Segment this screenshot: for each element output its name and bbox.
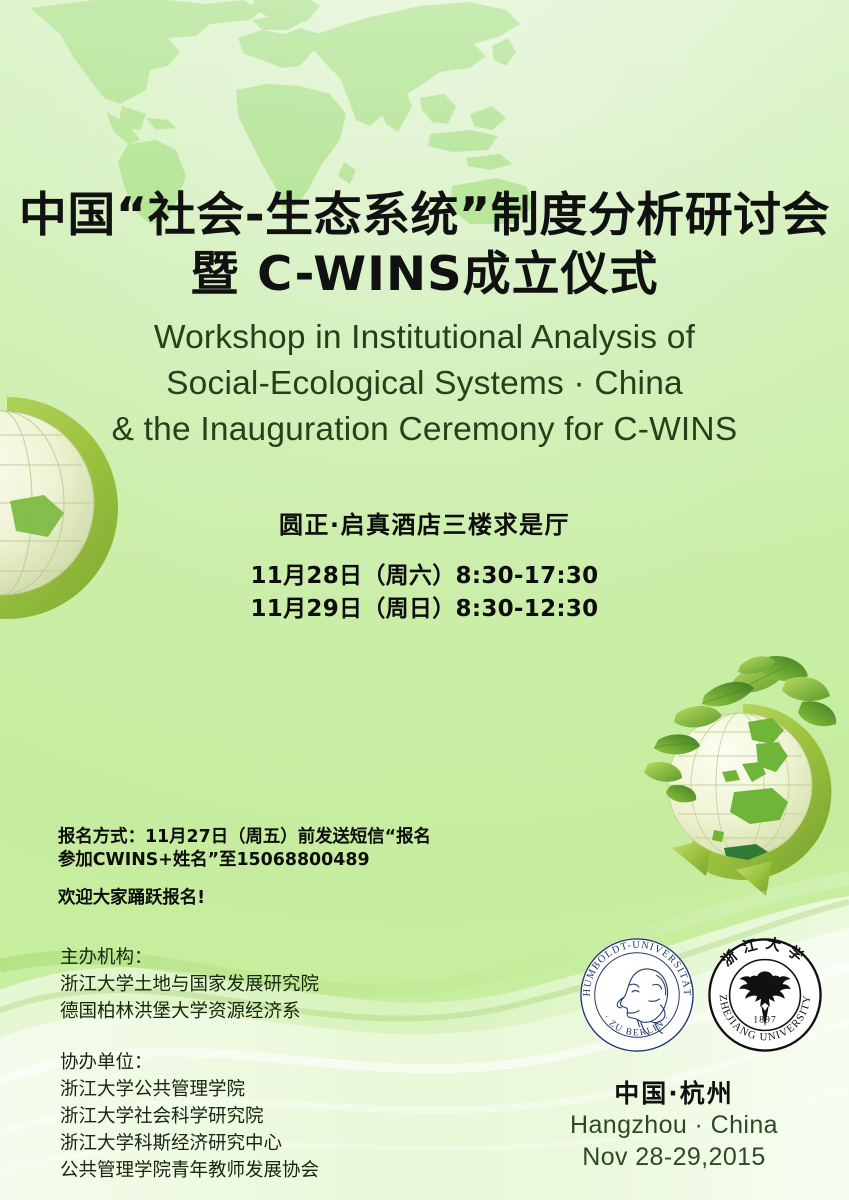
registration-welcome: 欢迎大家踊跃报名! [58, 887, 528, 910]
event-date-line-1: 11月28日（周六）8:30-17:30 [0, 560, 849, 593]
event-date-line-2: 11月29日（周日）8:30-12:30 [0, 593, 849, 626]
coorganizer-item: 公共管理学院青年教师发展协会 [60, 1157, 319, 1184]
logo-row: HUMBOLDT-UNIVERSITÄT · ZU BERLIN · [578, 936, 830, 1056]
poster-canvas: 中国“社会-生态系统”制度分析研讨会 暨 C-WINS成立仪式 Workshop… [0, 0, 849, 1200]
humboldt-university-logo: HUMBOLDT-UNIVERSITÄT · ZU BERLIN · [578, 936, 696, 1054]
coorganizer-item: 浙江大学科斯经济研究中心 [60, 1130, 319, 1157]
zhejiang-university-logo: 浙江大学 ZHEJIANG UNIVERSITY 1897 [706, 936, 824, 1054]
registration-info: 报名方式：11月27日（周五）前发送短信“报名 参加CWINS+姓名”至1506… [58, 826, 528, 910]
organizer-item: 浙江大学土地与国家发展研究院 [60, 971, 319, 998]
organizer-item: 德国柏林洪堡大学资源经济系 [60, 998, 319, 1025]
event-dates: 11月28日（周六）8:30-17:30 11月29日（周日）8:30-12:3… [0, 560, 849, 627]
place-english: Hangzhou · China [539, 1109, 809, 1141]
poster-title-english: Workshop in Institutional Analysis of So… [0, 315, 849, 454]
coorganizers-heading: 协办单位： [60, 1049, 319, 1076]
registration-line-1: 报名方式：11月27日（周五）前发送短信“报名 [58, 826, 528, 849]
registration-line-2: 参加CWINS+姓名”至15068800489 [58, 849, 528, 872]
organizers-heading: 主办机构： [60, 944, 319, 971]
place-chinese: 中国·杭州 [539, 1078, 809, 1109]
svg-text:1897: 1897 [753, 1015, 777, 1026]
poster-title-chinese: 中国“社会-生态系统”制度分析研讨会 暨 C-WINS成立仪式 [0, 186, 849, 304]
place-dates: Nov 28-29,2015 [539, 1141, 809, 1173]
venue-text: 圆正·启真酒店三楼求是厅 [0, 505, 849, 540]
title-english-line-1: Workshop in Institutional Analysis of [0, 315, 849, 361]
place-block: 中国·杭州 Hangzhou · China Nov 28-29,2015 [539, 1078, 809, 1173]
coorganizers-block: 协办单位： 浙江大学公共管理学院 浙江大学社会科学研究院 浙江大学科斯经济研究中… [60, 1049, 319, 1184]
coorganizer-item: 浙江大学公共管理学院 [60, 1076, 319, 1103]
title-english-line-2: Social-Ecological Systems · China [0, 361, 849, 407]
title-chinese-line-2: 暨 C-WINS成立仪式 [0, 245, 849, 304]
title-english-line-3: & the Inauguration Ceremony for C-WINS [0, 407, 849, 453]
organizers-block: 主办机构： 浙江大学土地与国家发展研究院 德国柏林洪堡大学资源经济系 [60, 944, 319, 1026]
title-chinese-line-1: 中国“社会-生态系统”制度分析研讨会 [19, 188, 830, 243]
coorganizer-item: 浙江大学社会科学研究院 [60, 1103, 319, 1130]
